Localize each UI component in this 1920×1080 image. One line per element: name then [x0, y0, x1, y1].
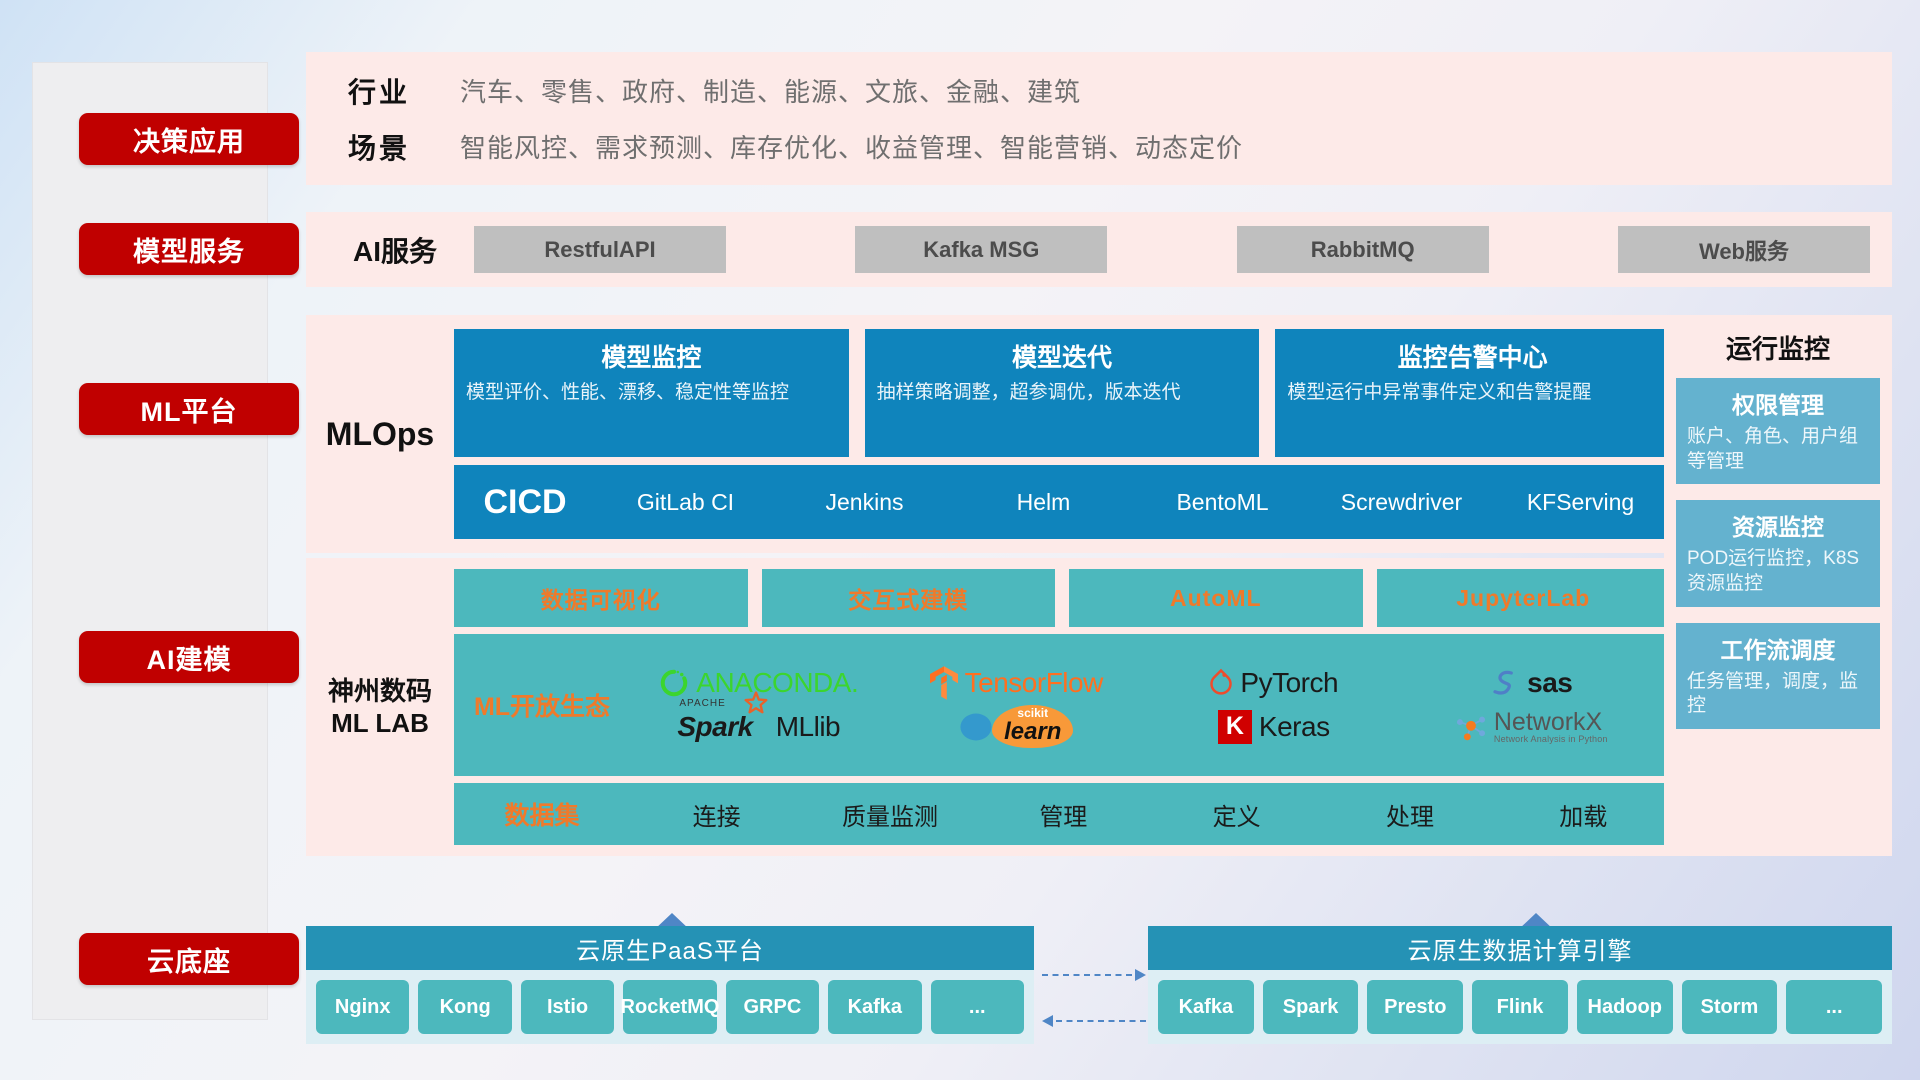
paas-chip-rocketmq[interactable]: RocketMQ	[623, 980, 716, 1034]
networkx-tagline: Network Analysis in Python	[1494, 735, 1608, 744]
engine-chip-storm[interactable]: Storm	[1682, 980, 1778, 1034]
mlops-card-desc: 模型评价、性能、漂移、稳定性等监控	[466, 380, 837, 406]
mlops-card-title: 模型迭代	[877, 338, 1248, 374]
industry-value: 汽车、零售、政府、制造、能源、文旅、金融、建筑	[460, 72, 1081, 109]
engine-chip-flink[interactable]: Flink	[1472, 980, 1568, 1034]
link-arrow-right-icon	[1042, 974, 1146, 976]
cicd-bar: CICD GitLab CI Jenkins Helm BentoML Scre…	[454, 465, 1670, 539]
rail-item-model-service[interactable]: 模型服务	[79, 223, 299, 275]
mlops-card-alert-center[interactable]: 监控告警中心 模型运行中异常事件定义和告警提醒	[1275, 329, 1670, 457]
cicd-item-kfserving[interactable]: KFServing	[1491, 488, 1670, 517]
pytorch-logo: PyTorch	[1209, 667, 1338, 699]
ai-modeling-band: 神州数码 ML LAB 数据可视化 交互式建模 AutoML JupyterLa…	[306, 558, 1678, 856]
cicd-item-helm[interactable]: Helm	[954, 488, 1133, 517]
ai-service-chip-rabbitmq[interactable]: RabbitMQ	[1237, 226, 1489, 273]
engine-chip-hadoop[interactable]: Hadoop	[1577, 980, 1673, 1034]
keras-logo: K Keras	[1218, 710, 1330, 744]
monitor-card-desc: POD运行监控，K8S资源监控	[1687, 547, 1869, 596]
cloud-native-paas-group: 云原生PaaS平台 Nginx Kong Istio RocketMQ GRPC…	[306, 926, 1034, 1044]
mlops-card-desc: 抽样策略调整，超参调优，版本迭代	[877, 380, 1248, 406]
monitor-card-title: 权限管理	[1687, 386, 1869, 420]
mllib-wordmark: MLlib	[776, 711, 840, 743]
ai-service-chip-kafka-msg[interactable]: Kafka MSG	[855, 226, 1107, 273]
mlops-card-desc: 模型运行中异常事件定义和告警提醒	[1287, 380, 1658, 406]
scenario-row: 场景 智能风控、需求预测、库存优化、收益管理、智能营销、动态定价	[328, 119, 1886, 175]
dataset-item-process[interactable]: 处理	[1323, 797, 1496, 832]
rail-item-decision-app[interactable]: 决策应用	[79, 113, 299, 165]
scenario-key: 场景	[328, 127, 460, 167]
paas-chip-kafka[interactable]: Kafka	[828, 980, 921, 1034]
rail-label: AI建模	[147, 638, 232, 677]
engine-chip-spark[interactable]: Spark	[1263, 980, 1359, 1034]
engine-chip-kafka[interactable]: Kafka	[1158, 980, 1254, 1034]
mlops-card-title: 监控告警中心	[1287, 338, 1658, 374]
rail-item-ai-modeling[interactable]: AI建模	[79, 631, 299, 683]
engine-title: 云原生数据计算引擎	[1148, 926, 1892, 970]
cicd-item-screwdriver[interactable]: Screwdriver	[1312, 488, 1491, 517]
dataset-item-define[interactable]: 定义	[1150, 797, 1323, 832]
dataset-row: 数据集 连接 质量监测 管理 定义 处理 加载	[454, 783, 1670, 845]
ml-ecosystem-row: ML开放生态 ANACONDA.	[454, 634, 1670, 776]
rail-label: 模型服务	[133, 230, 245, 269]
rail-item-cloud-base[interactable]: 云底座	[79, 933, 299, 985]
sas-wordmark: sas	[1527, 667, 1572, 699]
industry-key: 行业	[328, 71, 460, 111]
paas-chip-kong[interactable]: Kong	[418, 980, 511, 1034]
dataset-label: 数据集	[454, 796, 630, 832]
paas-chip-grpc[interactable]: GRPC	[726, 980, 819, 1034]
anaconda-icon	[659, 668, 689, 698]
monitor-card-resource[interactable]: 资源监控 POD运行监控，K8S资源监控	[1676, 500, 1880, 606]
tensorflow-wordmark: TensorFlow	[965, 667, 1103, 699]
pytorch-wordmark: PyTorch	[1240, 667, 1338, 699]
ml-lab-label-line1: 神州数码	[306, 675, 454, 708]
spark-star-icon	[743, 691, 769, 717]
industry-scenario-band: 行业 汽车、零售、政府、制造、能源、文旅、金融、建筑 场景 智能风控、需求预测、…	[306, 52, 1892, 185]
anaconda-wordmark: ANACONDA.	[696, 667, 858, 699]
dataset-item-manage[interactable]: 管理	[977, 797, 1150, 832]
dataset-item-connect[interactable]: 连接	[630, 797, 803, 832]
networkx-wordmark: NetworkX	[1494, 710, 1608, 735]
cloud-native-data-engine-group: 云原生数据计算引擎 Kafka Spark Presto Flink Hadoo…	[1148, 926, 1892, 1044]
monitor-card-title: 工作流调度	[1687, 631, 1869, 665]
cicd-title: CICD	[454, 483, 596, 522]
ml-ecosystem-label: ML开放生态	[454, 687, 630, 723]
ai-service-label: AI服务	[328, 230, 462, 270]
spark-mllib-logo: APACHE Spark MLlib	[677, 711, 840, 743]
tensorflow-logo: TensorFlow	[930, 666, 1103, 700]
run-monitoring-panel: 运行监控 权限管理 账户、角色、用户组等管理 资源监控 POD运行监控，K8S资…	[1664, 315, 1892, 856]
tool-chip-jupyterlab[interactable]: JupyterLab	[1377, 569, 1671, 627]
paas-chip-more[interactable]: ...	[931, 980, 1024, 1034]
cicd-item-jenkins[interactable]: Jenkins	[775, 488, 954, 517]
sas-icon	[1490, 668, 1520, 698]
engine-chip-presto[interactable]: Presto	[1367, 980, 1463, 1034]
rail-label: 决策应用	[133, 120, 245, 159]
mlops-card-title: 模型监控	[466, 338, 837, 374]
dataset-item-quality[interactable]: 质量监测	[803, 797, 976, 832]
ai-service-band: AI服务 RestfulAPI Kafka MSG RabbitMQ Web服务	[306, 212, 1892, 287]
monitor-card-workflow[interactable]: 工作流调度 任务管理，调度，监控	[1676, 623, 1880, 729]
learn-word: learn	[1004, 719, 1061, 744]
scikit-blue-blob-icon	[959, 710, 993, 744]
mlops-card-model-monitoring[interactable]: 模型监控 模型评价、性能、漂移、稳定性等监控	[454, 329, 849, 457]
sas-logo: sas	[1490, 667, 1572, 699]
mlops-band: MLOps 模型监控 模型评价、性能、漂移、稳定性等监控 模型迭代 抽样策略调整…	[306, 315, 1678, 553]
rail-label: ML平台	[141, 390, 238, 429]
architecture-diagram: 决策应用 模型服务 ML平台 AI建模 云底座 行业 汽车、零售、政府、制造、能…	[0, 0, 1920, 1080]
rail-item-ml-platform[interactable]: ML平台	[79, 383, 299, 435]
rail-label: 云底座	[147, 940, 231, 979]
tool-chip-automl[interactable]: AutoML	[1069, 569, 1363, 627]
monitor-card-desc: 任务管理，调度，监控	[1687, 670, 1869, 719]
monitor-card-desc: 账户、角色、用户组等管理	[1687, 425, 1869, 474]
scikit-learn-logo: scikit learn	[959, 705, 1073, 748]
link-arrow-left-icon	[1042, 1020, 1146, 1022]
engine-chip-more[interactable]: ...	[1786, 980, 1882, 1034]
spark-apache-text: APACHE	[679, 698, 725, 709]
pytorch-icon	[1209, 668, 1233, 698]
paas-title: 云原生PaaS平台	[306, 926, 1034, 970]
networkx-graph-icon	[1455, 712, 1487, 742]
monitor-card-permission[interactable]: 权限管理 账户、角色、用户组等管理	[1676, 378, 1880, 484]
ml-lab-label-line2: ML LAB	[306, 707, 454, 740]
ai-service-chip-restfulapi[interactable]: RestfulAPI	[474, 226, 726, 273]
ai-service-chip-web[interactable]: Web服务	[1618, 226, 1870, 273]
spark-wordmark: Spark	[677, 711, 752, 742]
dataset-item-load[interactable]: 加载	[1497, 797, 1670, 832]
tensorflow-icon	[930, 666, 958, 700]
paas-chip-nginx[interactable]: Nginx	[316, 980, 409, 1034]
networkx-logo: NetworkX Network Analysis in Python	[1455, 710, 1608, 744]
bidirectional-link-arrows	[1042, 966, 1146, 1028]
mlops-label: MLOps	[306, 416, 454, 453]
tool-chip-data-visualization[interactable]: 数据可视化	[454, 569, 748, 627]
ml-lab-label: 神州数码 ML LAB	[306, 675, 454, 740]
monitor-card-title: 资源监控	[1687, 508, 1869, 542]
scenario-value: 智能风控、需求预测、库存优化、收益管理、智能营销、动态定价	[460, 128, 1243, 165]
industry-row: 行业 汽车、零售、政府、制造、能源、文旅、金融、建筑	[328, 63, 1886, 119]
keras-k-mark: K	[1218, 710, 1252, 744]
tool-chip-interactive-modeling[interactable]: 交互式建模	[762, 569, 1056, 627]
paas-chip-istio[interactable]: Istio	[521, 980, 614, 1034]
cicd-item-bentoml[interactable]: BentoML	[1133, 488, 1312, 517]
cicd-item-gitlab-ci[interactable]: GitLab CI	[596, 488, 775, 517]
mlops-card-model-iteration[interactable]: 模型迭代 抽样策略调整，超参调优，版本迭代	[865, 329, 1260, 457]
run-monitoring-title: 运行监控	[1676, 329, 1880, 366]
keras-wordmark: Keras	[1259, 711, 1330, 743]
layer-rail: 决策应用 模型服务 ML平台 AI建模 云底座	[32, 62, 268, 1020]
